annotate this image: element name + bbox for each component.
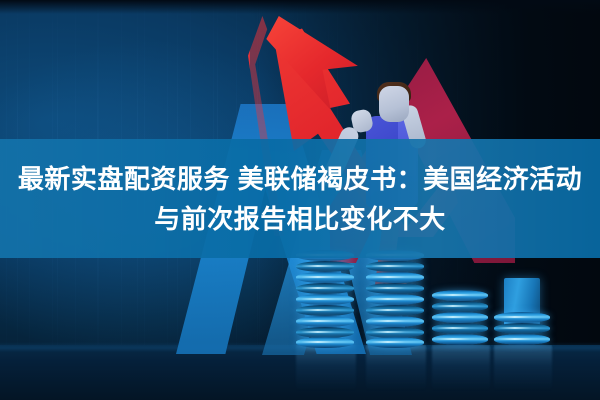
headline-line-2: 与前次报告相比变化不大 — [154, 199, 446, 239]
headline: 最新实盘配资服务 美联储褐皮书：美国经济活动 与前次报告相比变化不大 — [0, 139, 600, 258]
coin-stack-shadow-3 — [432, 345, 490, 391]
banner-image: 最新实盘配资服务 美联储褐皮书：美国经济活动 与前次报告相比变化不大 — [0, 0, 600, 400]
headline-line-1: 最新实盘配资服务 美联储褐皮书：美国经济活动 — [18, 159, 582, 199]
coin-stack-shadow-4 — [494, 345, 552, 391]
coin-stack-2 — [366, 250, 424, 345]
person-head — [379, 86, 409, 122]
coin-stack-4 — [494, 312, 550, 345]
coin-stack-3 — [432, 290, 488, 345]
coin-stack-1 — [296, 250, 354, 345]
